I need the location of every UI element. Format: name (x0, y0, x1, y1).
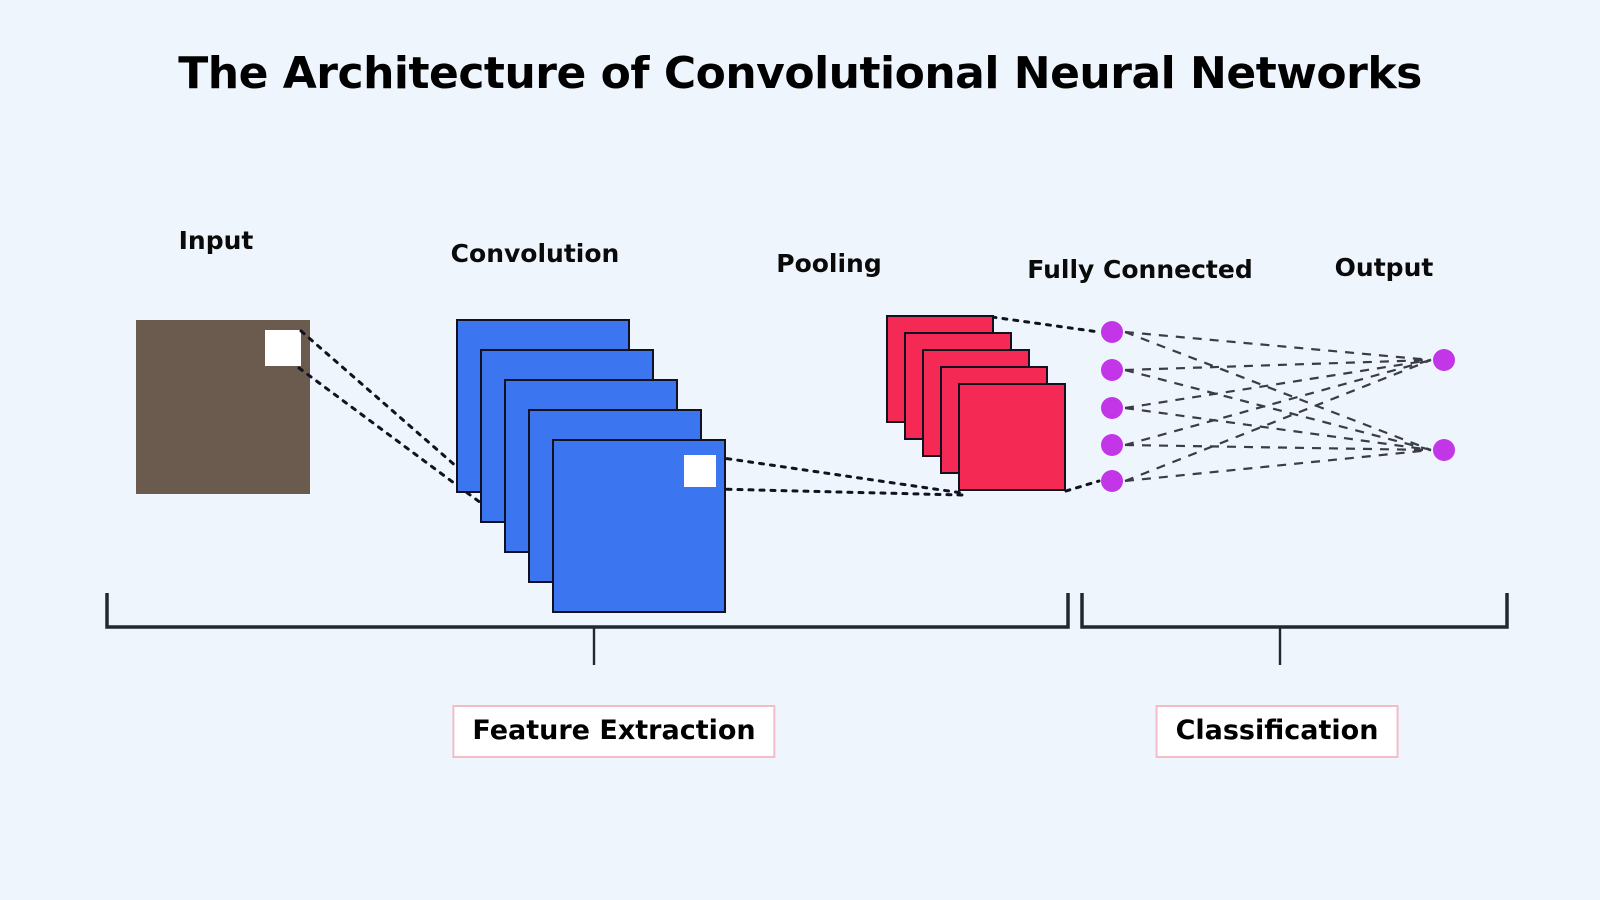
stage-label-convolution: Convolution (451, 239, 620, 268)
convolution-kernel-patch (684, 455, 716, 487)
fully-connected-node-1[interactable] (1101, 321, 1123, 343)
fully-connected-node-5[interactable] (1101, 470, 1123, 492)
fc-edge-3-to-output-2 (1125, 408, 1431, 450)
stage-label-input: Input (179, 226, 254, 255)
fc-edge-1-to-output-2 (1125, 332, 1431, 450)
connector-pool-to-fc-top (992, 317, 1099, 332)
section-caption-feature-extraction: Feature Extraction (452, 705, 775, 758)
connector-conv-to-pool-bottom (716, 489, 962, 495)
connector-pool-to-fc-bottom (1066, 481, 1099, 491)
fc-edge-1-to-output-1 (1125, 332, 1431, 360)
input-kernel-patch (265, 330, 301, 366)
fc-edge-4-to-output-2 (1125, 445, 1431, 450)
fc-edge-2-to-output-2 (1125, 370, 1431, 450)
fc-edge-4-to-output-1 (1125, 360, 1431, 445)
output-node-1[interactable] (1433, 349, 1455, 371)
fully-connected-node-4[interactable] (1101, 434, 1123, 456)
stage-label-pooling: Pooling (776, 249, 882, 278)
page-title: The Architecture of Convolutional Neural… (0, 48, 1600, 99)
bracket-classification (1082, 593, 1507, 627)
diagram-canvas: The Architecture of Convolutional Neural… (0, 0, 1600, 900)
connector-conv-to-pool-top (716, 457, 962, 493)
fc-edge-5-to-output-1 (1125, 360, 1431, 481)
fc-edge-2-to-output-1 (1125, 360, 1431, 370)
fully-connected-node-2[interactable] (1101, 359, 1123, 381)
fully-connected-node-3[interactable] (1101, 397, 1123, 419)
fc-edge-3-to-output-1 (1125, 360, 1431, 408)
section-caption-classification: Classification (1156, 705, 1399, 758)
stage-label-output: Output (1335, 253, 1434, 282)
fc-edge-5-to-output-2 (1125, 450, 1431, 481)
output-node-2[interactable] (1433, 439, 1455, 461)
stage-label-fully-connected: Fully Connected (1027, 255, 1252, 284)
pooling-feature-map-5[interactable] (958, 383, 1066, 491)
